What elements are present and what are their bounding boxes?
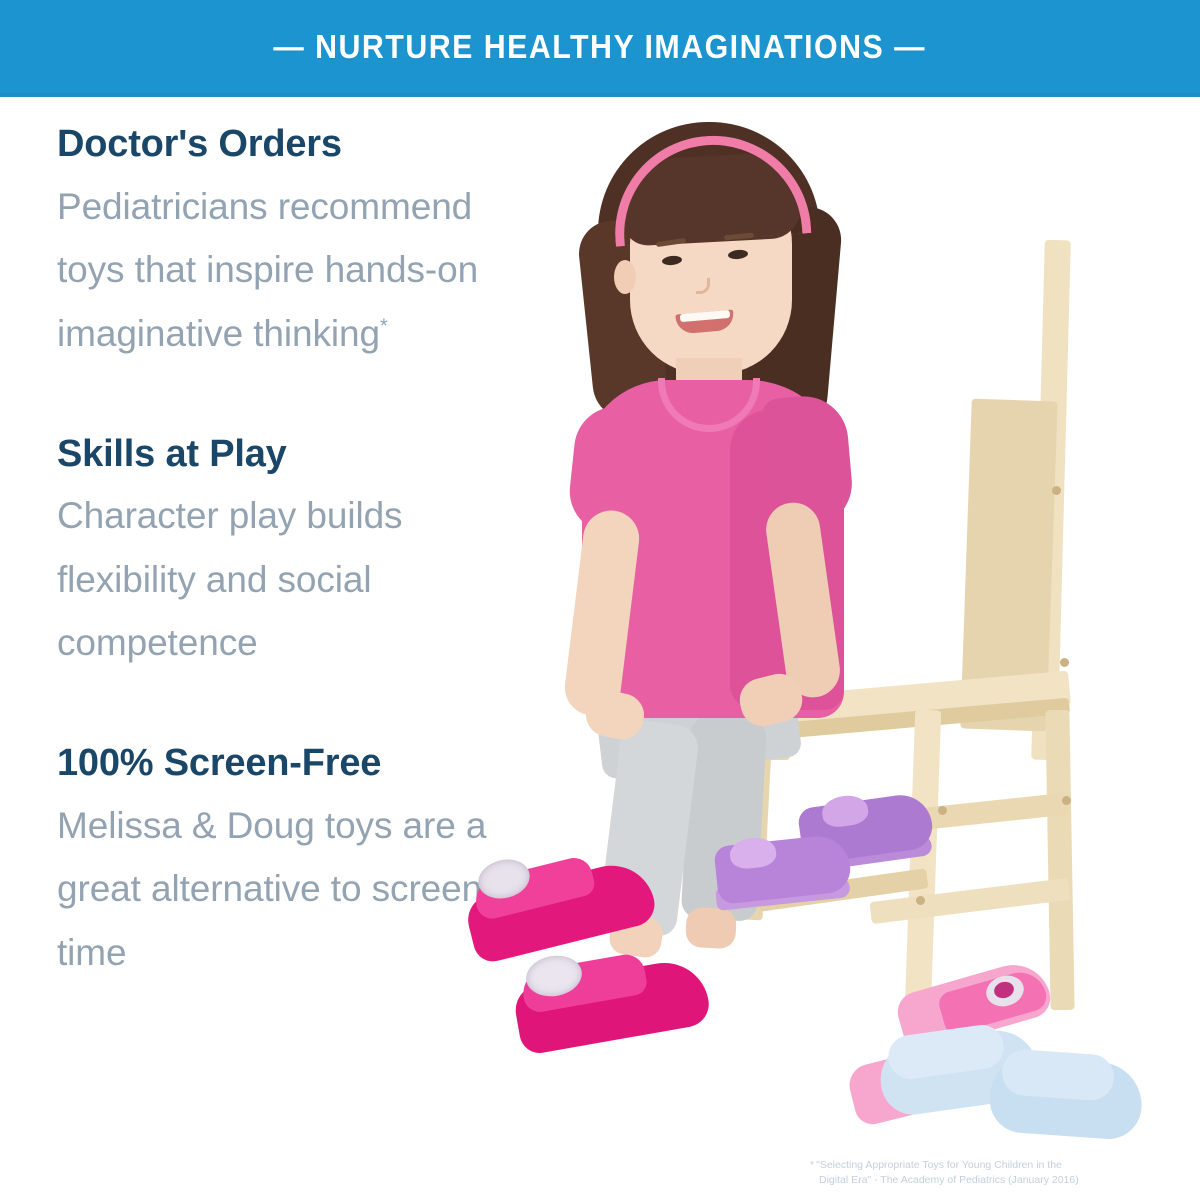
banner-title: — NURTURE HEALTHY IMAGINATIONS — <box>274 28 927 66</box>
chair-dowel-plug <box>938 806 947 815</box>
benefit-body-text: Pediatricians recommend toys that inspir… <box>57 186 478 354</box>
footnote-asterisk: * <box>810 1159 814 1171</box>
infographic-poster: — NURTURE HEALTHY IMAGINATIONS — Doctor'… <box>0 0 1200 1200</box>
chair-leg-front-right <box>905 710 941 1011</box>
chair-dowel-plug <box>916 896 925 905</box>
ear <box>614 260 636 294</box>
footnote-line-1: *"Selecting Appropriate Toys for Young C… <box>810 1158 1182 1173</box>
footnote-line-1-text: "Selecting Appropriate Toys for Young Ch… <box>816 1159 1062 1171</box>
footnote-line-2: Digital Era" - The Academy of Pediatrics… <box>810 1173 1182 1188</box>
chair-dowel-plug <box>1052 486 1061 495</box>
chair-dowel-plug <box>1060 658 1069 667</box>
footnote: *"Selecting Appropriate Toys for Young C… <box>810 1158 1182 1188</box>
chair-leg-rear-right <box>1045 710 1074 1010</box>
shoe-blue-b-ruffle <box>1001 1048 1116 1102</box>
product-photo <box>430 100 1200 1160</box>
footnote-marker: * <box>380 316 388 338</box>
ankle-right <box>685 907 737 950</box>
chair-dowel-plug <box>1062 796 1071 805</box>
header-banner: — NURTURE HEALTHY IMAGINATIONS — <box>0 0 1200 97</box>
